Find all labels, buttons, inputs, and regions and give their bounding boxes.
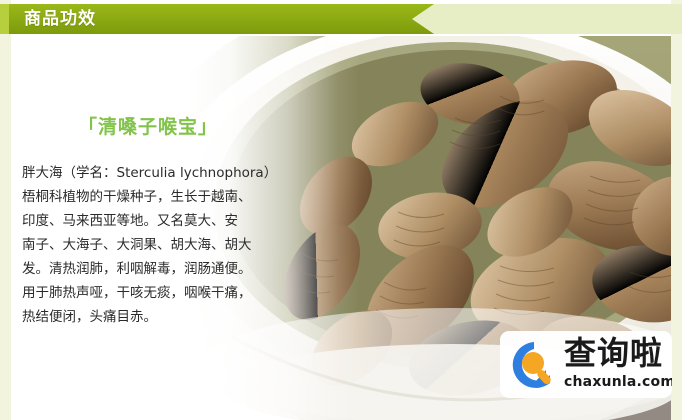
product-description: 胖大海（学名：Sterculia lychnophora） 梧桐科植物的干燥种子… <box>22 161 274 329</box>
watermark-text: 查询啦 chaxunla.com <box>564 333 670 391</box>
site-watermark: 查询啦 chaxunla.com <box>500 331 672 398</box>
description-line: 印度、马来西亚等地。又名莫大、安 <box>22 209 274 233</box>
description-line: 胖大海（学名：Sterculia lychnophora） <box>22 161 274 185</box>
page-edge-right <box>671 0 682 420</box>
section-header: 商品功效 <box>0 4 682 34</box>
description-line: 发。清热润肺，利咽解毒，润肠通便。 <box>22 257 274 281</box>
description-line: 南子、大海子、大洞果、胡大海、胡大 <box>22 233 274 257</box>
header-ribbon-cap <box>0 4 9 34</box>
page-edge-left <box>0 0 11 420</box>
page-title: 商品功效 <box>24 4 96 34</box>
description-line: 用于肺热声哑，干咳无痰，咽喉干痛， <box>22 281 274 305</box>
description-line: 梧桐科植物的干燥种子，生长于越南、 <box>22 185 274 209</box>
watermark-brand-cn: 查询啦 <box>564 333 670 373</box>
description-block: 「清嗓子喉宝」 胖大海（学名：Sterculia lychnophora） 梧桐… <box>22 112 274 329</box>
watermark-domain: chaxunla.com <box>564 373 670 391</box>
description-line: 热结便闭，头痛目赤。 <box>22 305 274 329</box>
product-subtitle: 「清嗓子喉宝」 <box>22 112 274 139</box>
product-efficacy-page: 商品功效 「清嗓子喉宝」 胖大海（学名：Sterculia lychnophor… <box>0 0 682 420</box>
search-logo-icon <box>506 337 562 393</box>
